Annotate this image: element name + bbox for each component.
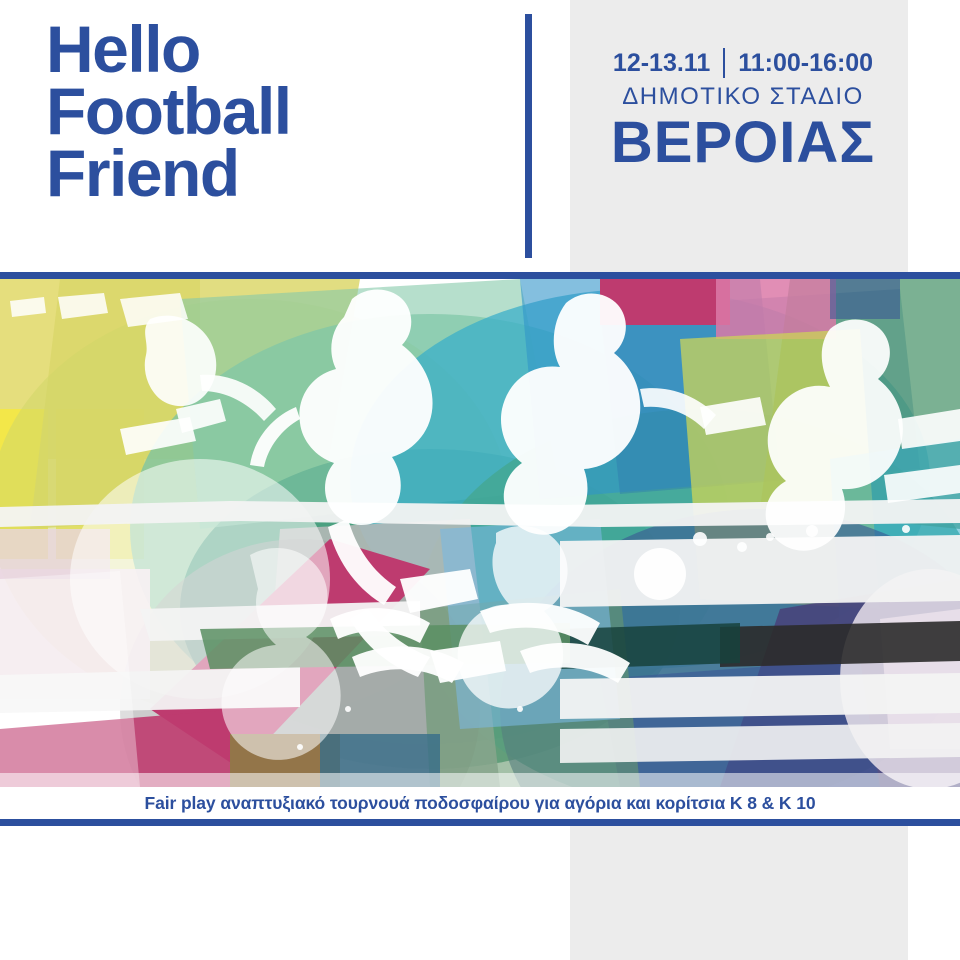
event-city: ΒΕΡΟΙΑΣ: [578, 112, 908, 174]
title-line-1: Hello: [46, 18, 506, 80]
page-title: Hello Football Friend: [46, 18, 506, 204]
event-datetime: 12-13.11 11:00-16:00: [578, 48, 908, 78]
poster-header: Hello Football Friend 12-13.11 11:00-16:…: [0, 0, 960, 275]
poster-root: Hello Football Friend 12-13.11 11:00-16:…: [0, 0, 960, 960]
footer-rule: [0, 819, 960, 826]
event-info: 12-13.11 11:00-16:00 ΔΗΜΟΤΙΚΟ ΣΤΑΔΙΟ ΒΕΡ…: [578, 48, 908, 174]
header-rule: [0, 272, 960, 279]
tagline-band: Fair play αναπτυξιακό τουρνουά ποδοσφαίρ…: [0, 787, 960, 819]
event-dates: 12-13.11: [613, 48, 710, 78]
title-line-2: Football: [46, 80, 506, 142]
title-line-3: Friend: [46, 142, 506, 204]
event-venue: ΔΗΜΟΤΙΚΟ ΣΤΑΔΙΟ: [578, 80, 908, 114]
datetime-separator-icon: [723, 48, 725, 78]
artwork-collage: [0, 279, 960, 787]
poster-footer: ΕΛΛΗΝΙΚΗ ΠΟΔΟΣΦΑΙΡΙΚΗ ΟΜΟΣΠΟΝΔΙΑ: [0, 826, 960, 960]
header-vertical-divider: [525, 14, 532, 258]
tagline-text: Fair play αναπτυξιακό τουρνουά ποδοσφαίρ…: [144, 793, 815, 813]
event-hours: 11:00-16:00: [738, 48, 873, 78]
